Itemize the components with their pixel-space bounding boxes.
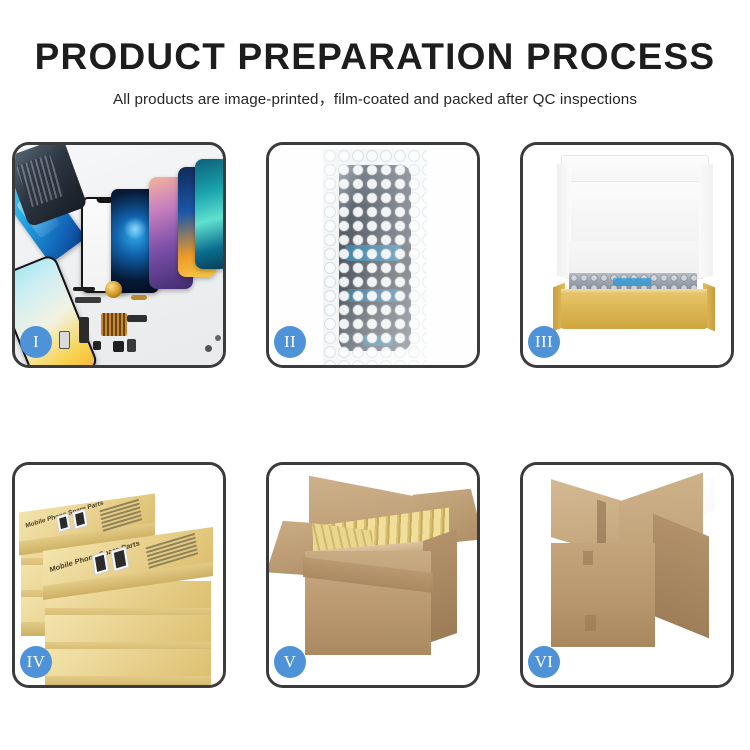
plastic-sheen-overlay bbox=[323, 149, 427, 367]
stacked-box-labelled-rear: Mobile Phone Spare Parts bbox=[19, 493, 155, 542]
gold-connector-part-icon bbox=[131, 295, 147, 300]
page-header: PRODUCT PREPARATION PROCESS All products… bbox=[0, 0, 750, 107]
box-front-panel-kraft bbox=[561, 293, 707, 329]
box-right-flap bbox=[699, 164, 713, 278]
antenna-flex-part-icon bbox=[127, 315, 147, 322]
screw-part-icon-2 bbox=[215, 335, 221, 341]
step-badge-1: I bbox=[20, 326, 52, 358]
screw-part-icon bbox=[205, 345, 212, 352]
page-title: PRODUCT PREPARATION PROCESS bbox=[0, 0, 750, 75]
step-badge-4: IV bbox=[20, 646, 52, 678]
step-badge-2: II bbox=[274, 326, 306, 358]
flex-cable-part-icon bbox=[75, 297, 101, 303]
step-badge-3: III bbox=[528, 326, 560, 358]
earpiece-speaker-part-icon bbox=[73, 287, 95, 291]
phone-teal-gradient-icon bbox=[195, 159, 226, 269]
sealed-carton-right-side bbox=[653, 514, 709, 639]
product-preparation-process-page: PRODUCT PREPARATION PROCESS All products… bbox=[0, 0, 750, 750]
taptic-engine-part-icon bbox=[113, 341, 124, 352]
side-flex-part-icon bbox=[79, 317, 89, 343]
step-badge-5: V bbox=[274, 646, 306, 678]
vibrator-motor-part-icon bbox=[105, 281, 122, 298]
bubble-wrap-pouch bbox=[323, 149, 427, 367]
page-subtitle: All products are image-printed，film-coat… bbox=[0, 75, 750, 107]
stacked-box-front-3 bbox=[45, 649, 211, 677]
camera-module-part-icon bbox=[93, 341, 101, 350]
box-screen-thumbnail-front-2 bbox=[110, 546, 129, 572]
chip-grid-part-icon bbox=[101, 313, 127, 336]
charging-port-part-icon bbox=[127, 339, 136, 352]
sim-tray-part-icon bbox=[59, 331, 70, 349]
carton-tape-upper bbox=[583, 551, 593, 565]
stacked-box-front-2 bbox=[45, 615, 211, 643]
sealed-carton-front bbox=[551, 543, 655, 647]
box-screen-thumbnail-front-1 bbox=[91, 551, 109, 576]
carton-tape-lower bbox=[585, 615, 596, 631]
step-badge-6: VI bbox=[528, 646, 560, 678]
box-stack: Mobile Phone Spare Parts bbox=[17, 481, 225, 677]
